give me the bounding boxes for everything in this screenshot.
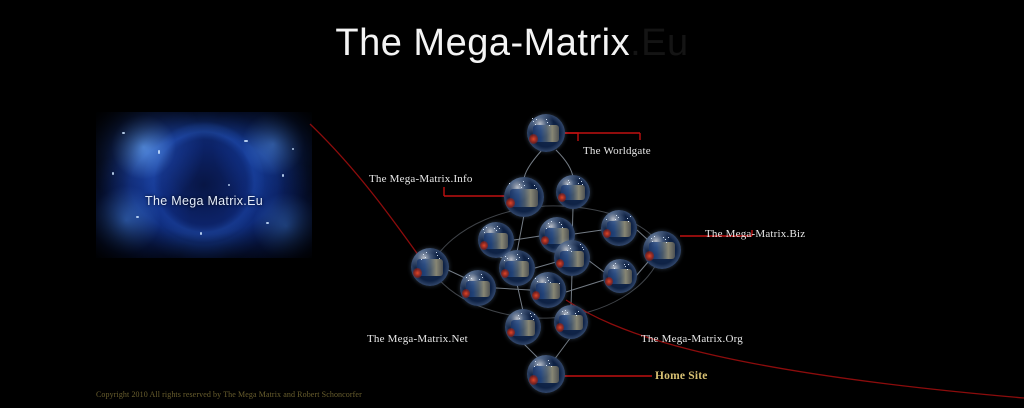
star-speck xyxy=(507,258,508,259)
star-speck xyxy=(570,248,571,249)
star-speck xyxy=(534,185,535,186)
label-home-site[interactable]: Home Site xyxy=(655,370,708,382)
star-speck xyxy=(582,247,583,248)
star-speck xyxy=(426,252,427,253)
node-sphere[interactable] xyxy=(643,231,681,269)
star-speck xyxy=(496,230,497,231)
label-mega-matrix-biz[interactable]: The Mega-Matrix.Biz xyxy=(705,228,805,240)
star-speck xyxy=(654,236,655,237)
star-speck xyxy=(486,227,487,228)
star-speck xyxy=(535,361,536,362)
star-speck xyxy=(568,245,569,246)
star-speck xyxy=(666,242,667,243)
star-speck xyxy=(537,281,538,282)
star-speck xyxy=(535,278,536,279)
star-speck xyxy=(582,184,583,185)
star-speck xyxy=(583,249,584,250)
star-speck xyxy=(581,181,582,182)
node-sphere[interactable] xyxy=(504,177,544,217)
node-sphere[interactable] xyxy=(556,175,590,209)
label-mega-matrix-net[interactable]: The Mega-Matrix.Net xyxy=(367,333,468,345)
star-speck xyxy=(468,280,469,281)
star-speck xyxy=(551,221,552,222)
star-speck xyxy=(439,258,440,259)
star-speck xyxy=(521,187,522,188)
star-speck xyxy=(559,222,560,223)
star-speck xyxy=(567,250,568,251)
node-sphere[interactable] xyxy=(554,240,590,276)
star-speck xyxy=(494,228,495,229)
star-speck xyxy=(567,184,568,185)
star-speck xyxy=(579,178,580,179)
star-speck xyxy=(548,280,549,281)
star-speck xyxy=(530,313,531,314)
node-sphere[interactable] xyxy=(603,259,637,293)
star-speck xyxy=(521,313,522,314)
star-speck xyxy=(524,185,525,186)
star-speck xyxy=(606,219,607,220)
star-speck xyxy=(535,124,536,125)
star-speck xyxy=(469,275,470,276)
slide-canvas: The Mega-Matrix.Eu The Mega Matrix.Eu xyxy=(0,0,1024,408)
star-speck xyxy=(519,184,520,185)
star-speck xyxy=(615,263,616,264)
star-speck xyxy=(545,282,546,283)
star-speck xyxy=(576,315,577,316)
star-speck xyxy=(651,238,652,239)
star-speck xyxy=(565,310,566,311)
star-speck xyxy=(518,315,519,316)
star-speck xyxy=(471,278,472,279)
star-speck xyxy=(616,215,617,216)
node-sphere[interactable] xyxy=(460,270,496,306)
star-speck xyxy=(615,219,616,220)
label-mega-matrix-info[interactable]: The Mega-Matrix.Info xyxy=(369,173,473,185)
star-speck xyxy=(423,254,424,255)
star-speck xyxy=(548,223,549,224)
node-sphere[interactable] xyxy=(499,250,535,286)
star-speck xyxy=(546,228,547,229)
star-speck xyxy=(627,218,628,219)
star-speck xyxy=(546,119,547,120)
star-speck xyxy=(505,256,506,257)
star-speck xyxy=(484,232,485,233)
star-speck xyxy=(665,239,666,240)
star-speck xyxy=(482,277,483,278)
star-speck xyxy=(533,319,534,320)
star-speck xyxy=(523,181,524,182)
star-speck xyxy=(499,228,500,229)
node-sphere[interactable] xyxy=(505,309,541,345)
star-speck xyxy=(559,283,560,284)
star-speck xyxy=(628,264,629,265)
star-speck xyxy=(437,255,438,256)
star-speck xyxy=(624,264,625,265)
star-speck xyxy=(628,221,629,222)
star-speck xyxy=(567,312,568,313)
star-speck xyxy=(509,183,510,184)
star-speck xyxy=(504,260,505,261)
star-speck xyxy=(536,188,537,189)
star-speck xyxy=(663,237,664,238)
star-speck xyxy=(618,217,619,218)
star-speck xyxy=(546,365,547,366)
star-speck xyxy=(625,266,626,267)
star-speck xyxy=(497,226,498,227)
node-sphere[interactable] xyxy=(527,114,565,152)
star-speck xyxy=(519,318,520,319)
star-speck xyxy=(516,259,517,260)
star-speck xyxy=(575,313,576,314)
star-speck xyxy=(630,216,631,217)
star-speck xyxy=(627,269,628,270)
star-speck xyxy=(614,268,615,269)
star-speck xyxy=(562,311,563,312)
star-speck xyxy=(551,366,552,367)
star-speck xyxy=(571,251,572,252)
star-speck xyxy=(532,118,533,119)
star-speck xyxy=(547,277,548,278)
node-sphere[interactable] xyxy=(411,248,449,286)
star-speck xyxy=(549,125,550,126)
star-speck xyxy=(564,314,565,315)
node-sphere[interactable] xyxy=(601,210,637,246)
star-speck xyxy=(481,274,482,275)
label-worldgate[interactable]: The Worldgate xyxy=(583,145,651,157)
star-speck xyxy=(533,121,534,122)
star-speck xyxy=(528,258,529,259)
star-speck xyxy=(483,229,484,230)
star-speck xyxy=(479,279,480,280)
star-speck xyxy=(550,282,551,283)
node-sphere[interactable] xyxy=(527,355,565,393)
star-speck xyxy=(568,180,569,181)
star-speck xyxy=(534,314,535,315)
star-speck xyxy=(580,244,581,245)
star-speck xyxy=(578,311,579,312)
star-speck xyxy=(549,226,550,227)
star-speck xyxy=(613,265,614,266)
star-speck xyxy=(421,259,422,260)
star-speck xyxy=(466,277,467,278)
star-speck xyxy=(569,182,570,183)
star-speck xyxy=(549,363,550,364)
star-speck xyxy=(562,227,563,228)
star-speck xyxy=(531,316,532,317)
star-speck xyxy=(652,241,653,242)
star-speck xyxy=(561,224,562,225)
star-speck xyxy=(534,366,535,367)
star-speck xyxy=(537,364,538,365)
node-sphere[interactable] xyxy=(530,272,566,308)
star-speck xyxy=(425,257,426,258)
node-sphere[interactable] xyxy=(554,305,588,339)
star-speck xyxy=(548,360,549,361)
star-speck xyxy=(578,183,579,184)
copyright-notice: Copyright 2010 All rights reserved by Th… xyxy=(96,390,362,399)
star-speck xyxy=(436,252,437,253)
star-speck xyxy=(517,254,518,255)
star-speck xyxy=(536,119,537,120)
star-speck xyxy=(547,122,548,123)
star-speck xyxy=(519,257,520,258)
label-mega-matrix-org[interactable]: The Mega-Matrix.Org xyxy=(641,333,743,345)
star-speck xyxy=(668,237,669,238)
